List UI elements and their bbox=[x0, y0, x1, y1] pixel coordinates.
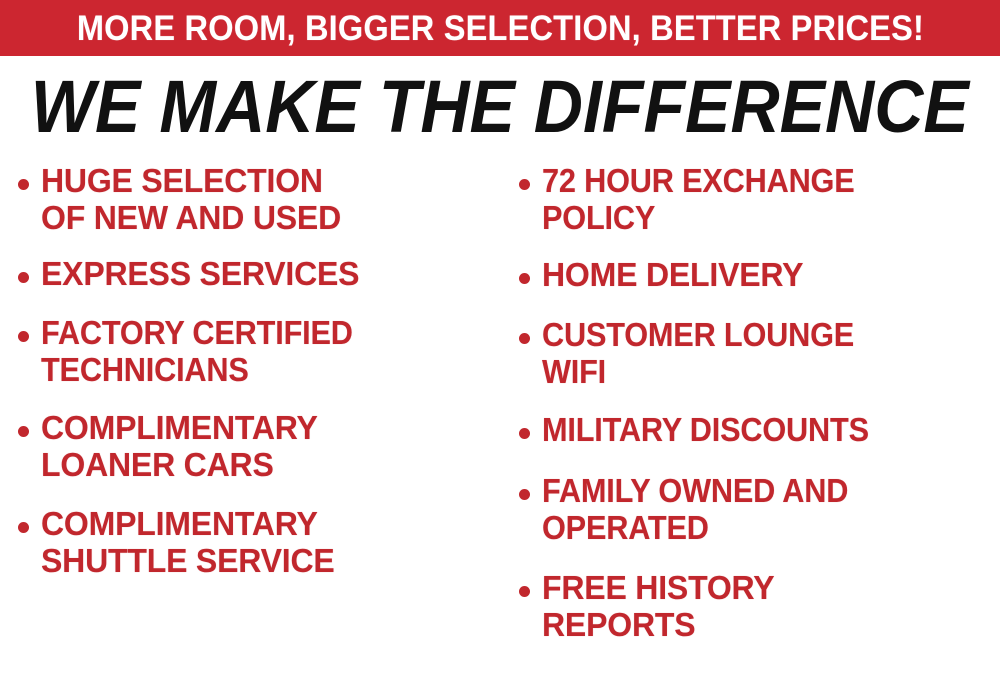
top-banner: MORE ROOM, BIGGER SELECTION, BETTER PRIC… bbox=[0, 0, 1000, 56]
bullet-dot-icon bbox=[18, 179, 29, 190]
list-item: COMPLIMENTARY LOANER CARS bbox=[18, 409, 496, 483]
list-item-label: FACTORY CERTIFIED TECHNICIANS bbox=[41, 314, 353, 388]
list-item-label: FAMILY OWNED AND OPERATED bbox=[542, 472, 848, 546]
bullet-dot-icon bbox=[519, 586, 530, 597]
bullet-dot-icon bbox=[18, 522, 29, 533]
list-item-label: HUGE SELECTION OF NEW AND USED bbox=[41, 162, 341, 236]
list-item: FACTORY CERTIFIED TECHNICIANS bbox=[18, 314, 496, 388]
list-item-label: HOME DELIVERY bbox=[542, 256, 803, 293]
bullet-dot-icon bbox=[519, 333, 530, 344]
list-item-label: EXPRESS SERVICES bbox=[41, 255, 359, 292]
list-item: CUSTOMER LOUNGE WIFI bbox=[519, 316, 1000, 390]
list-item: FAMILY OWNED AND OPERATED bbox=[519, 472, 1000, 546]
bullet-dot-icon bbox=[18, 426, 29, 437]
list-item-label: COMPLIMENTARY SHUTTLE SERVICE bbox=[41, 505, 335, 579]
bullet-dot-icon bbox=[519, 179, 530, 190]
list-item: HUGE SELECTION OF NEW AND USED bbox=[18, 162, 496, 236]
list-item-label: 72 HOUR EXCHANGE POLICY bbox=[542, 162, 855, 236]
headline-container: WE MAKE THE DIFFERENCE bbox=[0, 66, 1000, 148]
list-item-label: CUSTOMER LOUNGE WIFI bbox=[542, 316, 854, 390]
bullet-dot-icon bbox=[519, 428, 530, 439]
bullet-dot-icon bbox=[519, 273, 530, 284]
list-item: 72 HOUR EXCHANGE POLICY bbox=[519, 162, 1000, 236]
benefits-column-right: 72 HOUR EXCHANGE POLICY HOME DELIVERY CU… bbox=[519, 162, 1000, 661]
list-item: MILITARY DISCOUNTS bbox=[519, 411, 1000, 448]
list-item-label: COMPLIMENTARY LOANER CARS bbox=[41, 409, 318, 483]
benefits-column-left: HUGE SELECTION OF NEW AND USED EXPRESS S… bbox=[18, 162, 496, 597]
banner-headline-text: MORE ROOM, BIGGER SELECTION, BETTER PRIC… bbox=[76, 11, 923, 46]
bullet-dot-icon bbox=[18, 331, 29, 342]
list-item: HOME DELIVERY bbox=[519, 256, 1000, 293]
list-item: EXPRESS SERVICES bbox=[18, 255, 496, 292]
bullet-dot-icon bbox=[519, 489, 530, 500]
list-item: FREE HISTORY REPORTS bbox=[519, 569, 1000, 643]
bullet-dot-icon bbox=[18, 272, 29, 283]
promotional-poster: MORE ROOM, BIGGER SELECTION, BETTER PRIC… bbox=[0, 0, 1000, 694]
list-item-label: MILITARY DISCOUNTS bbox=[542, 411, 869, 448]
list-item-label: FREE HISTORY REPORTS bbox=[542, 569, 774, 643]
page-title: WE MAKE THE DIFFERENCE bbox=[31, 70, 969, 144]
list-item: COMPLIMENTARY SHUTTLE SERVICE bbox=[18, 505, 496, 579]
